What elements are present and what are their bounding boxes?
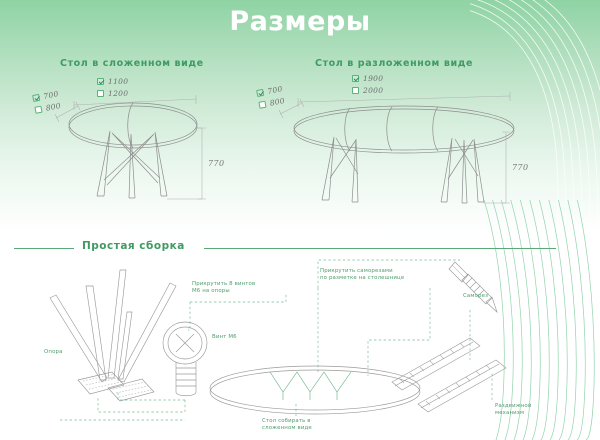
checkbox-checked-icon[interactable] xyxy=(352,75,359,82)
option-label: 700 xyxy=(267,84,284,96)
selftap-screw-drawing xyxy=(449,262,497,312)
section-caption-folded: Стол в сложенном виде xyxy=(60,58,204,69)
assembly-mounted-legs xyxy=(270,372,351,400)
option-label: 1900 xyxy=(363,74,383,83)
label-selftap-screw: Саморез xyxy=(463,293,488,300)
assembly-table-drawing xyxy=(210,366,420,414)
option-row[interactable]: 800 xyxy=(258,95,286,110)
folded-depth-options: 700 800 xyxy=(32,88,62,117)
label-support: Опора xyxy=(44,349,63,356)
option-label: 1100 xyxy=(108,77,128,86)
unfolded-depth-options: 700 800 xyxy=(256,83,286,112)
option-row[interactable]: 1100 xyxy=(97,76,128,86)
option-label: 800 xyxy=(45,100,62,112)
checkbox-checked-icon[interactable] xyxy=(32,93,40,101)
option-label: 2000 xyxy=(363,86,383,95)
option-label: 1200 xyxy=(108,89,128,98)
bolt-drawing xyxy=(163,322,207,396)
assembly-header: Простая сборка xyxy=(14,240,554,256)
checkbox-unchecked-icon[interactable] xyxy=(97,90,104,97)
poster-page: Размеры xyxy=(0,0,600,440)
divider-right xyxy=(204,248,556,249)
folded-height-dimension: 770 xyxy=(208,159,224,168)
assembly-title: Простая сборка xyxy=(82,240,185,252)
option-row[interactable]: 1900 xyxy=(352,73,383,83)
note-screws: Прикрутить 8 винтов М6 на опоры xyxy=(192,281,255,295)
unfolded-table-drawing xyxy=(294,106,514,203)
checkbox-unchecked-icon[interactable] xyxy=(34,105,42,113)
checkbox-unchecked-icon[interactable] xyxy=(352,87,359,94)
option-row[interactable]: 2000 xyxy=(352,85,383,95)
folded-width-options: 1100 1200 xyxy=(97,76,128,100)
unfolded-width-options: 1900 2000 xyxy=(352,73,383,97)
support-legs-drawing xyxy=(50,270,176,401)
checkbox-checked-icon[interactable] xyxy=(97,78,104,85)
option-label: 700 xyxy=(43,89,60,101)
checkbox-unchecked-icon[interactable] xyxy=(258,100,266,108)
divider-left xyxy=(14,248,74,249)
label-mechanism: Раздвижной механизм xyxy=(495,403,532,417)
checkbox-checked-icon[interactable] xyxy=(256,88,264,96)
option-row[interactable]: 800 xyxy=(34,100,62,115)
note-fold: Стол собирать в сложенном виде xyxy=(262,418,312,432)
option-label: 800 xyxy=(269,95,286,107)
section-caption-unfolded: Стол в разложенном виде xyxy=(315,58,473,69)
note-selftap: Прикрутить саморезами по разметке на сто… xyxy=(320,268,404,282)
callout-lines xyxy=(60,260,492,420)
extension-mechanism-drawing xyxy=(392,338,506,412)
unfolded-height-dimension: 770 xyxy=(512,163,528,172)
folded-table-drawing xyxy=(69,103,197,198)
label-bolt: Винт М6 xyxy=(212,334,237,341)
option-row[interactable]: 1200 xyxy=(97,88,128,98)
